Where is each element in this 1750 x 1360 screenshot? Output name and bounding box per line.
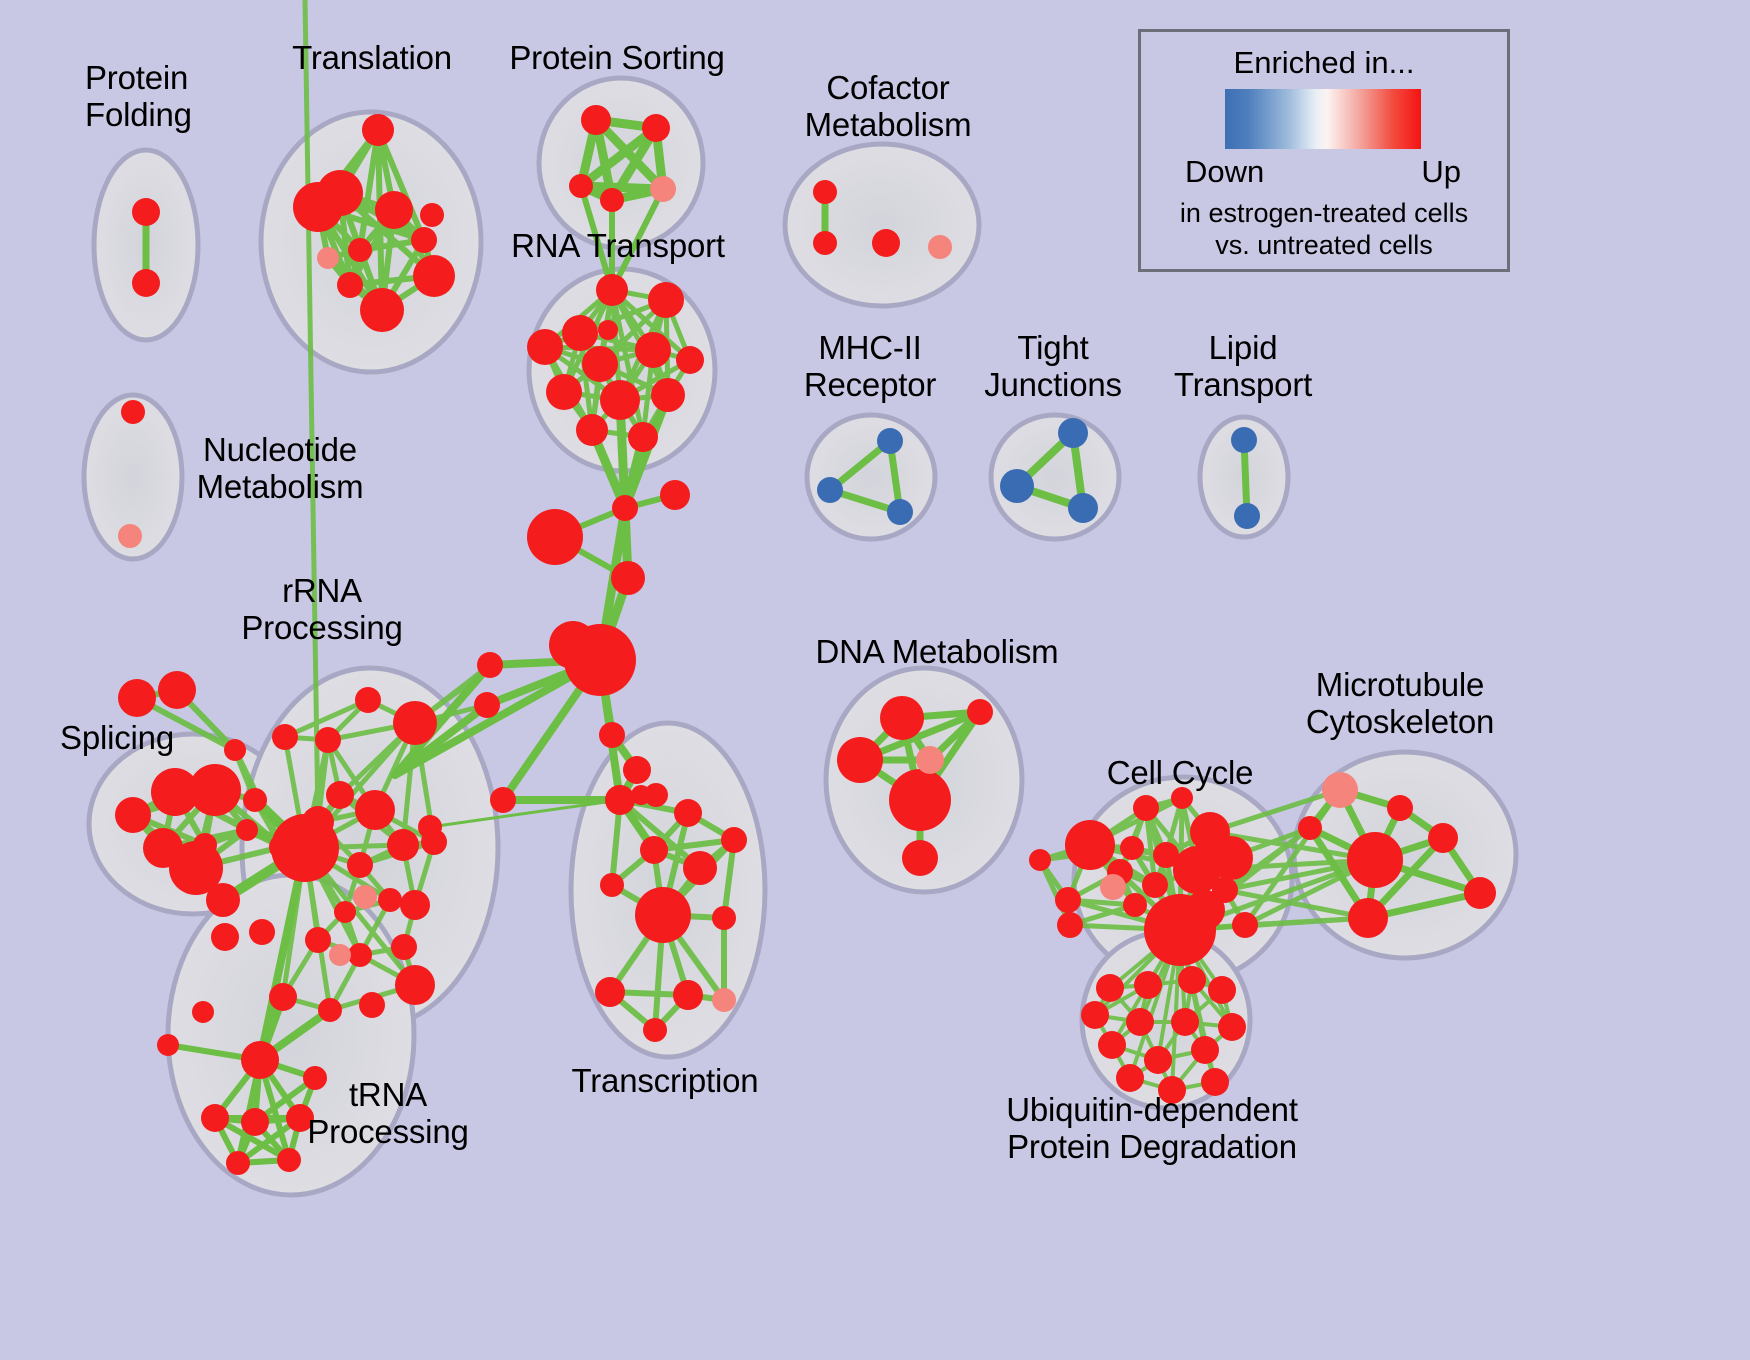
cluster-cofactor-metabolism	[785, 144, 979, 306]
node	[241, 1108, 269, 1136]
legend-color-bar	[1225, 89, 1421, 149]
node	[527, 509, 583, 565]
node	[562, 315, 598, 351]
node	[1098, 1031, 1126, 1059]
node	[375, 191, 413, 229]
cluster-protein-sorting	[539, 78, 703, 248]
legend-subtitle-line2: vs. untreated cells	[1141, 230, 1507, 261]
cluster-label-protein-sorting: Protein Sorting	[509, 40, 724, 77]
node	[132, 269, 160, 297]
cluster-translation	[261, 112, 481, 372]
legend-panel: Enriched in... Down Up in estrogen-treat…	[1138, 29, 1510, 272]
cluster-label-tight-junctions: Tight Junctions	[984, 330, 1122, 404]
node	[420, 203, 444, 227]
node	[576, 414, 608, 446]
node	[474, 692, 500, 718]
node	[236, 819, 258, 841]
node	[201, 1104, 229, 1132]
node	[391, 934, 417, 960]
node	[400, 890, 430, 920]
legend-subtitle-line1: in estrogen-treated cells	[1141, 198, 1507, 229]
node	[599, 722, 625, 748]
node	[596, 274, 628, 306]
node-down	[1231, 427, 1257, 453]
node	[241, 1041, 279, 1079]
node	[1096, 974, 1124, 1002]
node-weak	[928, 235, 952, 259]
node-weak	[353, 885, 377, 909]
node	[527, 329, 563, 365]
cluster-label-splicing: Splicing	[60, 720, 174, 757]
cluster-label-lipid-transport: Lipid Transport	[1174, 330, 1312, 404]
node	[600, 188, 624, 212]
node	[355, 790, 395, 830]
node	[1123, 893, 1147, 917]
node	[272, 724, 298, 750]
node	[967, 699, 993, 725]
node	[673, 980, 703, 1010]
node-down	[1058, 418, 1088, 448]
node-weak	[329, 944, 351, 966]
node	[326, 781, 354, 809]
node-down	[817, 477, 843, 503]
node	[1178, 966, 1206, 994]
node	[676, 346, 704, 374]
node	[598, 320, 618, 340]
node	[595, 977, 625, 1007]
node	[362, 114, 394, 146]
node	[318, 998, 342, 1022]
node	[712, 906, 736, 930]
node	[277, 1148, 301, 1172]
node	[635, 332, 671, 368]
node	[648, 282, 684, 318]
node	[623, 756, 651, 784]
node	[1055, 887, 1081, 913]
node	[393, 701, 437, 745]
node	[600, 873, 624, 897]
node	[600, 380, 640, 420]
node	[651, 378, 685, 412]
node	[1065, 820, 1115, 870]
cluster-label-ubiquitin: Ubiquitin-dependent Protein Degradation	[1006, 1092, 1298, 1166]
node	[157, 1034, 179, 1056]
node	[189, 764, 241, 816]
cluster-label-rrna-processing: rRNA Processing	[241, 573, 402, 647]
node	[243, 788, 267, 812]
node	[674, 799, 702, 827]
node-down	[887, 499, 913, 525]
node	[1347, 832, 1403, 888]
node	[1232, 912, 1258, 938]
node	[158, 671, 196, 709]
node	[115, 797, 151, 833]
node-down	[1234, 503, 1260, 529]
node	[490, 787, 516, 813]
node	[872, 229, 900, 257]
node	[226, 1151, 250, 1175]
node	[635, 887, 691, 943]
node-weak	[916, 746, 944, 774]
node	[347, 852, 373, 878]
node	[359, 992, 385, 1018]
node	[605, 785, 635, 815]
node	[192, 1001, 214, 1023]
node	[582, 346, 618, 382]
node	[546, 374, 582, 410]
cluster-label-dna-metabolism: DNA Metabolism	[816, 634, 1059, 671]
node	[1428, 823, 1458, 853]
node	[1029, 849, 1051, 871]
node	[1208, 976, 1236, 1004]
cluster-mhc-ii	[807, 415, 935, 539]
node	[1348, 898, 1388, 938]
node	[395, 965, 435, 1005]
node	[411, 227, 437, 253]
legend-high-label: Up	[1421, 154, 1461, 190]
legend-low-label: Down	[1185, 154, 1264, 190]
node	[355, 687, 381, 713]
node-weak	[712, 988, 736, 1012]
node	[413, 255, 455, 297]
node	[269, 983, 297, 1011]
node	[612, 495, 638, 521]
node	[628, 422, 658, 452]
node	[334, 901, 356, 923]
node	[1081, 1001, 1109, 1029]
node	[813, 180, 837, 204]
node	[1120, 836, 1144, 860]
node	[1298, 816, 1322, 840]
node	[1133, 795, 1159, 821]
node	[1134, 971, 1162, 999]
node-weak	[1100, 874, 1126, 900]
node	[360, 288, 404, 332]
node	[337, 272, 363, 298]
node	[118, 679, 156, 717]
cluster-label-nucleotide-metabolism: Nucleotide Metabolism	[197, 432, 364, 506]
node	[1171, 1008, 1199, 1036]
node	[1218, 1013, 1246, 1041]
node	[1142, 872, 1168, 898]
node	[224, 739, 246, 761]
node	[902, 840, 938, 876]
node	[315, 727, 341, 753]
node	[640, 836, 668, 864]
node-down	[1068, 493, 1098, 523]
node-down	[1000, 469, 1034, 503]
node-weak	[317, 247, 339, 269]
cluster-label-cofactor-metabolism: Cofactor Metabolism	[805, 70, 972, 144]
node	[660, 480, 690, 510]
node	[631, 785, 651, 805]
node	[132, 198, 160, 226]
node	[211, 923, 239, 951]
node	[642, 114, 670, 142]
node	[1057, 912, 1083, 938]
cluster-label-microtubule: Microtubule Cytoskeleton	[1306, 667, 1494, 741]
node-weak	[118, 524, 142, 548]
cluster-label-protein-folding: Protein Folding	[85, 60, 192, 134]
node	[721, 827, 747, 853]
node	[271, 814, 339, 882]
node-down	[877, 428, 903, 454]
node	[889, 769, 951, 831]
node	[813, 231, 837, 255]
cluster-label-transcription: Transcription	[572, 1063, 759, 1100]
node	[1464, 877, 1496, 909]
legend-title: Enriched in...	[1141, 45, 1507, 81]
node	[206, 883, 240, 917]
node	[348, 943, 372, 967]
node	[569, 174, 593, 198]
node	[293, 182, 343, 232]
cluster-label-translation: Translation	[292, 40, 452, 77]
node	[1144, 1046, 1172, 1074]
node	[837, 737, 883, 783]
enrichment-map-figure: Protein FoldingTranslationProtein Sortin…	[0, 0, 1750, 1360]
node	[1191, 1036, 1219, 1064]
node-weak	[650, 176, 676, 202]
node	[549, 621, 597, 669]
node	[581, 105, 611, 135]
node	[611, 561, 645, 595]
cluster-label-trna-processing: tRNA Processing	[307, 1077, 468, 1151]
node	[387, 829, 419, 861]
node	[249, 919, 275, 945]
cluster-label-mhc-ii-receptor: MHC-II Receptor	[804, 330, 936, 404]
node	[348, 238, 372, 262]
node	[1126, 1008, 1154, 1036]
node	[477, 652, 503, 678]
node	[121, 400, 145, 424]
node	[1185, 890, 1225, 930]
node	[683, 851, 717, 885]
node-weak	[1322, 772, 1358, 808]
cluster-label-cell-cycle: Cell Cycle	[1107, 755, 1254, 792]
node	[1116, 1064, 1144, 1092]
node	[880, 696, 924, 740]
node	[418, 815, 442, 839]
cluster-label-rna-transport: RNA Transport	[511, 228, 725, 265]
node	[1387, 795, 1413, 821]
node	[1209, 836, 1253, 880]
node	[643, 1018, 667, 1042]
node	[305, 927, 331, 953]
node	[378, 888, 402, 912]
